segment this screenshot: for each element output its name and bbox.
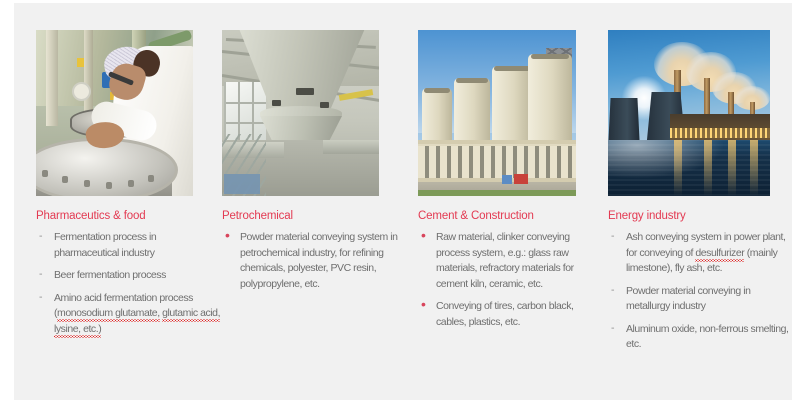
dot-bullet-icon: •	[225, 230, 229, 241]
slide-canvas: Pharmaceutics & food - Fermentation proc…	[14, 3, 792, 400]
list-item-text: Raw material, clinker conveying process …	[436, 231, 574, 290]
list-item-text: Fermentation process in pharmaceutical i…	[54, 231, 156, 259]
list-item: - Aluminum oxide, non-ferrous smelting, …	[608, 322, 792, 353]
list-item: - Ash conveying system in power plant, f…	[608, 230, 792, 277]
industry-column-cement-construction: Cement & Construction • Raw material, cl…	[418, 30, 598, 337]
dot-bullet-icon: •	[421, 230, 425, 241]
dot-bullet-icon: •	[421, 299, 425, 310]
list-item-text: Ash conveying system in power plant, for…	[626, 231, 785, 274]
list-item-text: Conveying of tires, carbon black, cables…	[436, 300, 573, 328]
list-item: - Powder material conveying in metallurg…	[608, 284, 792, 315]
bullet-list: - Fermentation process in pharmaceutical…	[36, 230, 222, 337]
list-item: • Raw material, clinker conveying proces…	[418, 230, 598, 292]
spellcheck-underline: desulfurizer	[695, 247, 744, 262]
cement-plant-silos-photo	[418, 30, 576, 196]
bullet-list: • Powder material conveying system in pe…	[222, 230, 410, 292]
list-item: • Powder material conveying system in pe…	[222, 230, 410, 292]
column-heading: Petrochemical	[222, 210, 410, 222]
list-item-text: Powder material conveying in metallurgy …	[626, 285, 751, 313]
industry-column-pharmaceutics-food: Pharmaceutics & food - Fermentation proc…	[36, 30, 222, 344]
column-heading: Energy industry	[608, 210, 792, 222]
industry-column-petrochemical: Petrochemical • Powder material conveyin…	[222, 30, 410, 299]
industry-columns: Pharmaceutics & food - Fermentation proc…	[14, 3, 792, 400]
power-plant-cooling-towers-dusk-photo	[608, 30, 770, 196]
pharmaceutical-operator-stainless-tank-photo	[36, 30, 193, 196]
list-item-text: Beer fermentation process	[54, 269, 166, 281]
list-item-text: Aluminum oxide, non-ferrous smelting, et…	[626, 323, 789, 351]
list-item: - Beer fermentation process	[36, 268, 222, 284]
dash-bullet-icon: -	[39, 230, 42, 242]
dash-bullet-icon: -	[39, 291, 42, 303]
dash-bullet-icon: -	[39, 268, 42, 280]
list-item: - Fermentation process in pharmaceutical…	[36, 230, 222, 261]
conical-hopper-silo-interior-photo	[222, 30, 379, 196]
dash-bullet-icon: -	[611, 284, 614, 296]
column-heading: Cement & Construction	[418, 210, 598, 222]
bullet-list: • Raw material, clinker conveying proces…	[418, 230, 598, 330]
spellcheck-underline: monosodium glutamate,	[57, 307, 160, 322]
bullet-list: - Ash conveying system in power plant, f…	[608, 230, 792, 353]
dash-bullet-icon: -	[611, 322, 614, 334]
list-item: - Amino acid fermentation process (monos…	[36, 291, 222, 338]
list-item: • Conveying of tires, carbon black, cabl…	[418, 299, 598, 330]
dash-bullet-icon: -	[611, 230, 614, 242]
column-heading: Pharmaceutics & food	[36, 210, 222, 222]
list-item-text: Powder material conveying system in petr…	[240, 231, 398, 290]
list-item-text: Amino acid fermentation process (monosod…	[54, 292, 220, 338]
industry-column-energy-industry: Energy industry - Ash conveying system i…	[608, 30, 792, 360]
